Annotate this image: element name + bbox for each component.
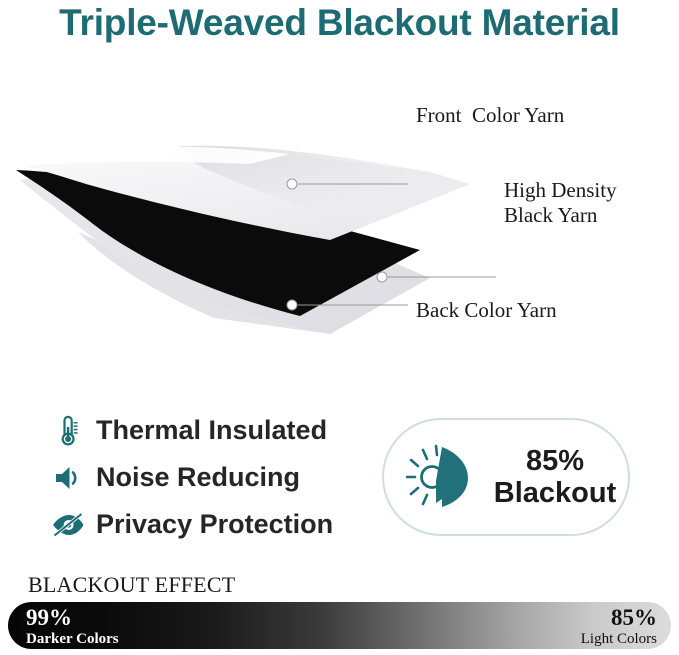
badge-text: 85% Blackout xyxy=(492,445,628,510)
page-title: Triple-Weaved Blackout Material xyxy=(0,2,679,44)
callout-label-back-color-yarn: Back Color Yarn xyxy=(416,298,557,323)
blackout-effect-heading: BLACKOUT EFFECT xyxy=(28,572,235,598)
feature-label: Privacy Protection xyxy=(96,509,333,540)
feature-label: Noise Reducing xyxy=(96,462,300,493)
thermometer-icon xyxy=(46,414,90,448)
feature-item-noise-reducing: Noise Reducing xyxy=(46,454,356,501)
bar-right-sublabel: Light Colors xyxy=(581,631,657,647)
feature-item-thermal-insulated: Thermal Insulated xyxy=(46,407,356,454)
callout-label-front-color-yarn: Front Color Yarn xyxy=(416,103,564,128)
blackout-effect-gradient-bar: 99% Darker Colors 85% Light Colors xyxy=(8,602,671,649)
feature-item-privacy-protection: Privacy Protection xyxy=(46,501,356,548)
callout-label-high-density-black-yarn: High Density Black Yarn xyxy=(504,178,617,228)
sun-blocked-icon xyxy=(384,441,492,513)
badge-percent: 85% xyxy=(526,445,584,477)
badge-word: Blackout xyxy=(494,477,616,509)
feature-label: Thermal Insulated xyxy=(96,415,327,446)
speaker-icon xyxy=(46,463,90,493)
bar-right-value: 85% Light Colors xyxy=(581,606,657,647)
bar-left-percent: 99% xyxy=(26,606,119,631)
blackout-badge: 85% Blackout xyxy=(382,418,630,536)
feature-list: Thermal Insulated Noise Reducing Privacy… xyxy=(46,407,356,548)
bar-left-sublabel: Darker Colors xyxy=(26,631,119,647)
bar-left-value: 99% Darker Colors xyxy=(26,606,119,647)
bar-right-percent: 85% xyxy=(581,606,657,631)
eye-slash-icon xyxy=(46,511,90,539)
